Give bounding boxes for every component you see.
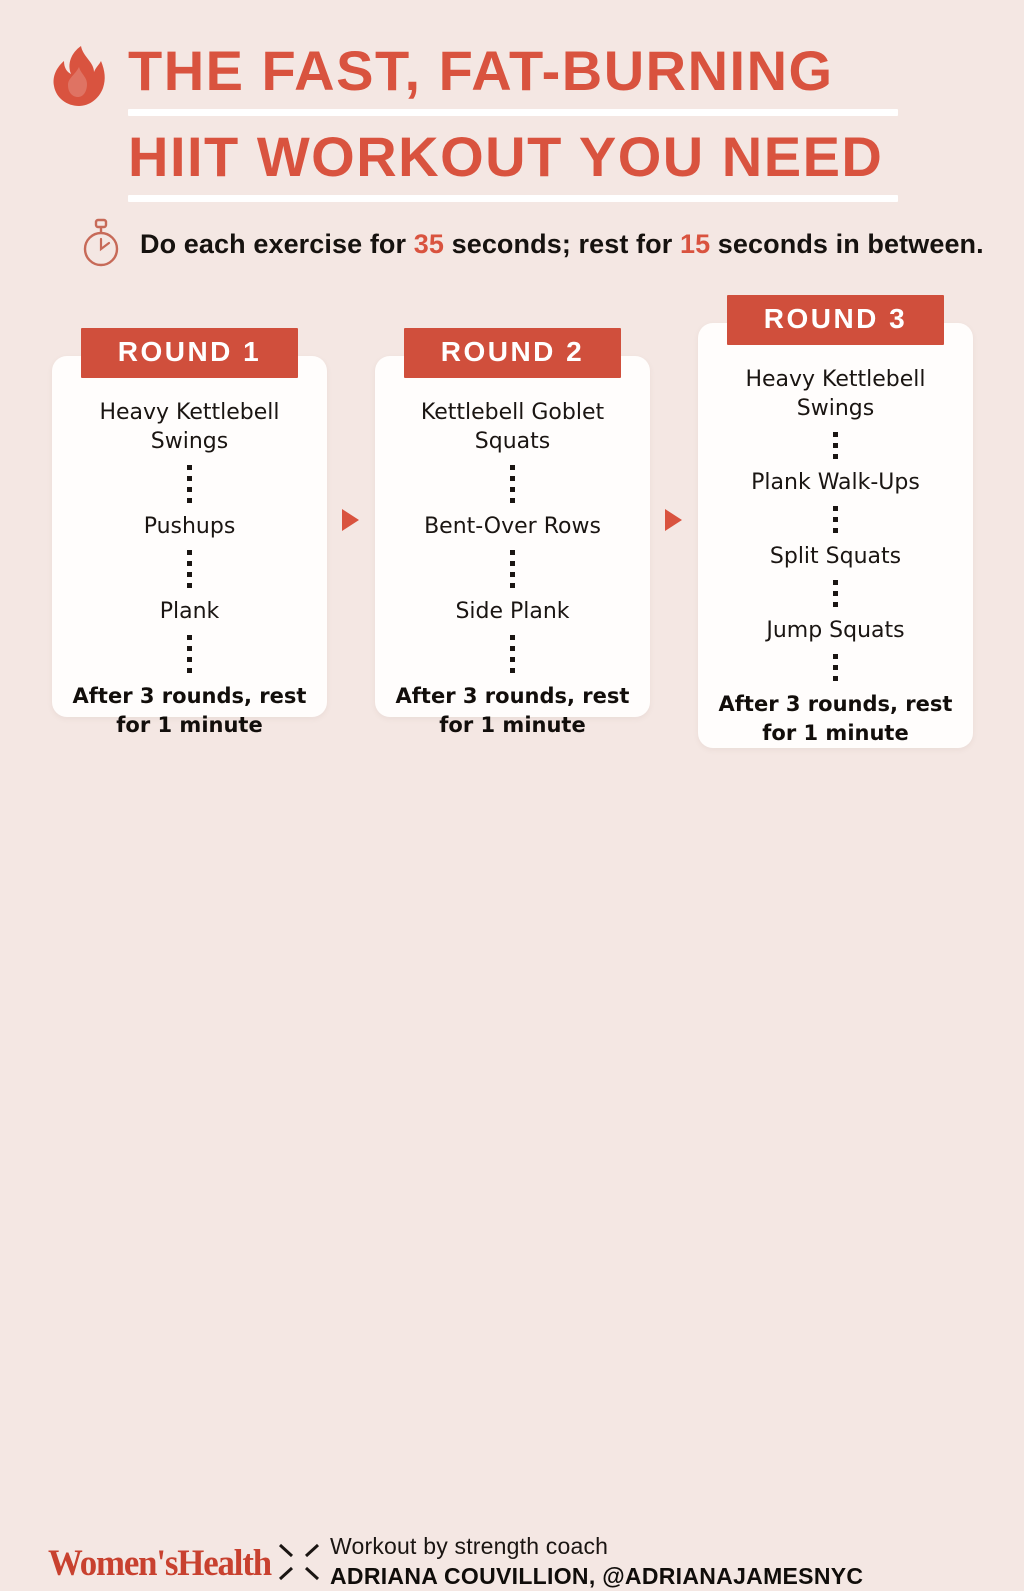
exercise-item: Plank bbox=[52, 597, 327, 626]
round-3-badge: ROUND 3 bbox=[727, 295, 944, 345]
vertical-dotted-connector bbox=[510, 550, 515, 588]
round-2-rest-note: After 3 rounds, rest for 1 minute bbox=[375, 682, 650, 740]
sparkle-burst-icon bbox=[277, 1538, 321, 1586]
exercise-item: Jump Squats bbox=[698, 616, 973, 645]
bottom-bar: Women'sHealth Workout by strength coach … bbox=[0, 762, 1024, 852]
exercise-item: Kettlebell Goblet Squats bbox=[375, 398, 650, 456]
credit-line-2: ADRIANA COUVILLION, @ADRIANAJAMESNYC bbox=[330, 1561, 863, 1591]
vertical-dotted-connector bbox=[187, 635, 192, 673]
round-1-rest-note: After 3 rounds, rest for 1 minute bbox=[52, 682, 327, 740]
round-1-body: Heavy Kettlebell Swings Pushups Plank Af… bbox=[52, 398, 327, 740]
exercise-item: Heavy Kettlebell Swings bbox=[52, 398, 327, 456]
exercise-item: Side Plank bbox=[375, 597, 650, 626]
round-2-badge: ROUND 2 bbox=[404, 328, 621, 378]
round-2-body: Kettlebell Goblet Squats Bent-Over Rows … bbox=[375, 398, 650, 740]
vertical-dotted-connector bbox=[187, 550, 192, 588]
round-3-body: Heavy Kettlebell Swings Plank Walk-Ups S… bbox=[698, 365, 973, 748]
exercise-item: Heavy Kettlebell Swings bbox=[698, 365, 973, 423]
credit-line-1: Workout by strength coach bbox=[330, 1532, 863, 1561]
triangle-right-icon bbox=[342, 509, 359, 531]
exercise-item: Bent-Over Rows bbox=[375, 512, 650, 541]
exercise-item: Pushups bbox=[52, 512, 327, 541]
exercise-item: Split Squats bbox=[698, 542, 973, 571]
round-1-badge: ROUND 1 bbox=[81, 328, 298, 378]
vertical-dotted-connector bbox=[833, 580, 838, 607]
triangle-right-icon bbox=[665, 509, 682, 531]
vertical-dotted-connector bbox=[833, 654, 838, 681]
vertical-dotted-connector bbox=[187, 465, 192, 503]
infographic-page: THE FAST, FAT-BURNING HIIT WORKOUT YOU N… bbox=[0, 0, 1024, 874]
womens-health-logo: Women'sHealth bbox=[48, 1542, 271, 1585]
rounds-container: ROUND 1 Heavy Kettlebell Swings Pushups … bbox=[0, 0, 1024, 874]
vertical-dotted-connector bbox=[833, 432, 838, 459]
vertical-dotted-connector bbox=[510, 635, 515, 673]
vertical-dotted-connector bbox=[833, 506, 838, 533]
round-3-rest-note: After 3 rounds, rest for 1 minute bbox=[698, 690, 973, 748]
exercise-item: Plank Walk-Ups bbox=[698, 468, 973, 497]
credit-block: Workout by strength coach ADRIANA COUVIL… bbox=[330, 1532, 863, 1591]
vertical-dotted-connector bbox=[510, 465, 515, 503]
